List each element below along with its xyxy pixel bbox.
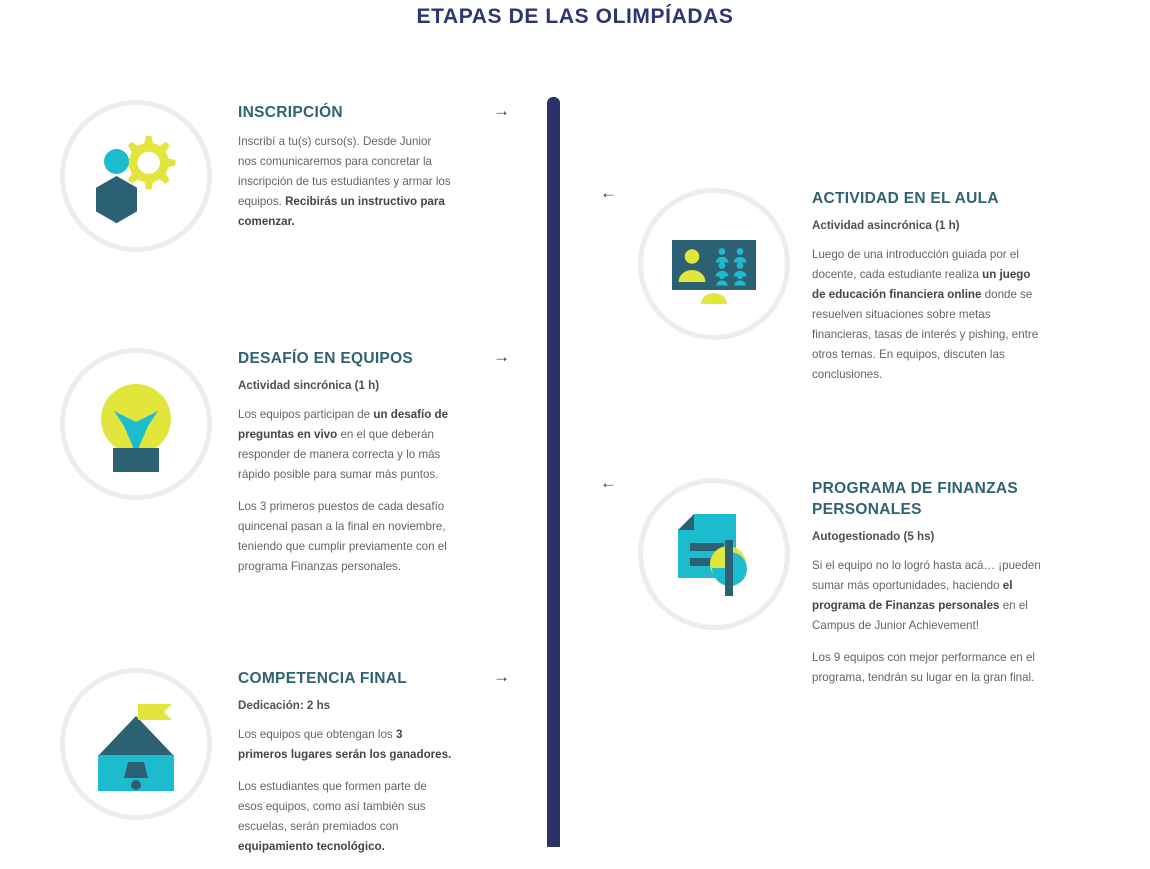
timeline-bar [547,97,560,847]
arrow-right-icon: → [493,102,510,119]
document-dollar-icon [638,478,790,630]
stage-heading: ACTIVIDAD EN EL AULA [812,188,1045,209]
classroom-screen-icon [638,188,790,340]
mountain-flag-icon [60,668,212,820]
stage-paragraph: Luego de una introducción guiada por el … [812,245,1045,385]
stage-body: Los equipos que obtengan los 3 primeros … [238,725,453,857]
stage-paragraph: Si el equipo no lo logró hasta acá… ¡pue… [812,556,1045,636]
page-title: ETAPAS DE LAS OLIMPÍADAS [0,0,1150,31]
stage-heading: DESAFÍO EN EQUIPOS [238,348,453,369]
stage-subheading: Dedicación: 2 hs [238,698,453,714]
stage-text-actividad-en-el-aula: ACTIVIDAD EN EL AULA Actividad asincróni… [812,188,1045,397]
stage-paragraph: Los estudiantes que formen parte de esos… [238,777,453,857]
stage-paragraph: Los 3 primeros puestos de cada desafío q… [238,497,453,577]
stage-subheading: Autogestionado (5 hs) [812,529,1045,545]
stage-body: Inscribí a tu(s) curso(s). Desde Junior … [238,132,453,232]
stage-heading: INSCRIPCIÓN [238,102,453,123]
stage-heading: PROGRAMA DE FINANZAS PERSONALES [812,478,1045,520]
stage-heading: COMPETENCIA FINAL [238,668,453,689]
arrow-left-icon: ← [600,184,617,201]
stage-body: Los equipos participan de un desafío de … [238,405,453,577]
stage-body: Luego de una introducción guiada por el … [812,245,1045,385]
stage-subheading: Actividad sincrónica (1 h) [238,378,453,394]
stage-paragraph: Inscribí a tu(s) curso(s). Desde Junior … [238,132,453,232]
stage-text-programa-de-finanzas-personales: PROGRAMA DE FINANZAS PERSONALES Autogest… [812,478,1045,700]
stage-paragraph: Los 9 equipos con mejor performance en e… [812,648,1045,688]
stage-paragraph: Los equipos que obtengan los 3 primeros … [238,725,453,765]
stage-subheading: Actividad asincrónica (1 h) [812,218,1045,234]
stage-body: Si el equipo no lo logró hasta acá… ¡pue… [812,556,1045,688]
stage-text-inscripcion: INSCRIPCIÓN Inscribí a tu(s) curso(s). D… [238,102,453,244]
arrow-left-icon: ← [600,474,617,491]
lightbulb-icon [60,348,212,500]
stage-text-competencia-final: COMPETENCIA FINAL Dedicación: 2 hs Los e… [238,668,453,869]
arrow-right-icon: → [493,348,510,365]
stage-text-desafio-en-equipos: DESAFÍO EN EQUIPOS Actividad sincrónica … [238,348,453,589]
gear-person-icon [60,100,212,252]
arrow-right-icon: → [493,668,510,685]
stage-paragraph: Los equipos participan de un desafío de … [238,405,453,485]
